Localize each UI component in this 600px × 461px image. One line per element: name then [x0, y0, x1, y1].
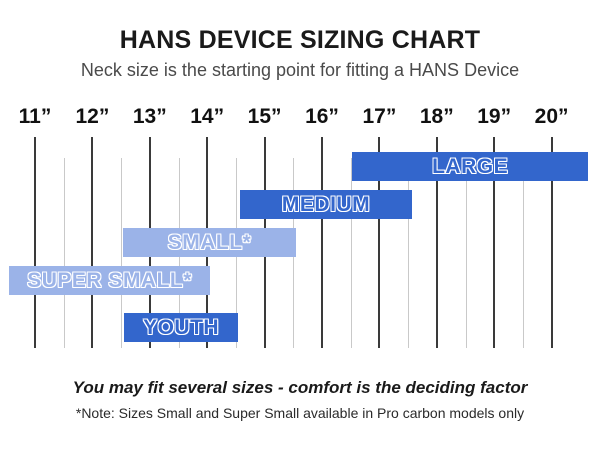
size-bar-label: SUPER SMALL* — [27, 269, 192, 293]
gridline-minor — [408, 158, 409, 348]
footer-primary-note: You may fit several sizes - comfort is t… — [0, 378, 600, 398]
axis-tick-label: 12” — [75, 105, 109, 129]
size-bar: SMALL* — [123, 228, 296, 257]
plot-area: 11”12”13”14”15”16”17”18”19”20” LARGEMEDI… — [0, 0, 600, 400]
size-bar: YOUTH — [124, 313, 238, 342]
gridline-major — [321, 137, 323, 348]
axis-tick-label: 13” — [133, 105, 167, 129]
gridline-minor — [351, 158, 352, 348]
axis-tick-label: 11” — [19, 105, 52, 129]
gridline-major — [34, 137, 36, 348]
size-bar-label: SMALL* — [168, 231, 252, 255]
axis-tick-label: 16” — [305, 105, 339, 129]
axis-tick-label: 14” — [190, 105, 224, 129]
size-bar-label: YOUTH — [143, 316, 219, 340]
axis-tick-label: 19” — [477, 105, 511, 129]
axis-tick-label: 18” — [420, 105, 454, 129]
gridline-minor — [466, 158, 467, 348]
size-bar-label: LARGE — [432, 155, 508, 179]
axis-tick-label: 17” — [362, 105, 396, 129]
size-bar: SUPER SMALL* — [9, 266, 210, 295]
gridline-minor — [523, 158, 524, 348]
gridline-major — [91, 137, 93, 348]
size-bar: LARGE — [352, 152, 588, 181]
sizing-chart: HANS DEVICE SIZING CHART Neck size is th… — [0, 0, 600, 461]
footer-secondary-note: *Note: Sizes Small and Super Small avail… — [0, 405, 600, 421]
size-bar: MEDIUM — [240, 190, 412, 219]
axis-tick-label: 15” — [248, 105, 282, 129]
size-bar-label: MEDIUM — [282, 193, 370, 217]
axis-tick-label: 20” — [535, 105, 569, 129]
gridline-minor — [64, 158, 65, 348]
